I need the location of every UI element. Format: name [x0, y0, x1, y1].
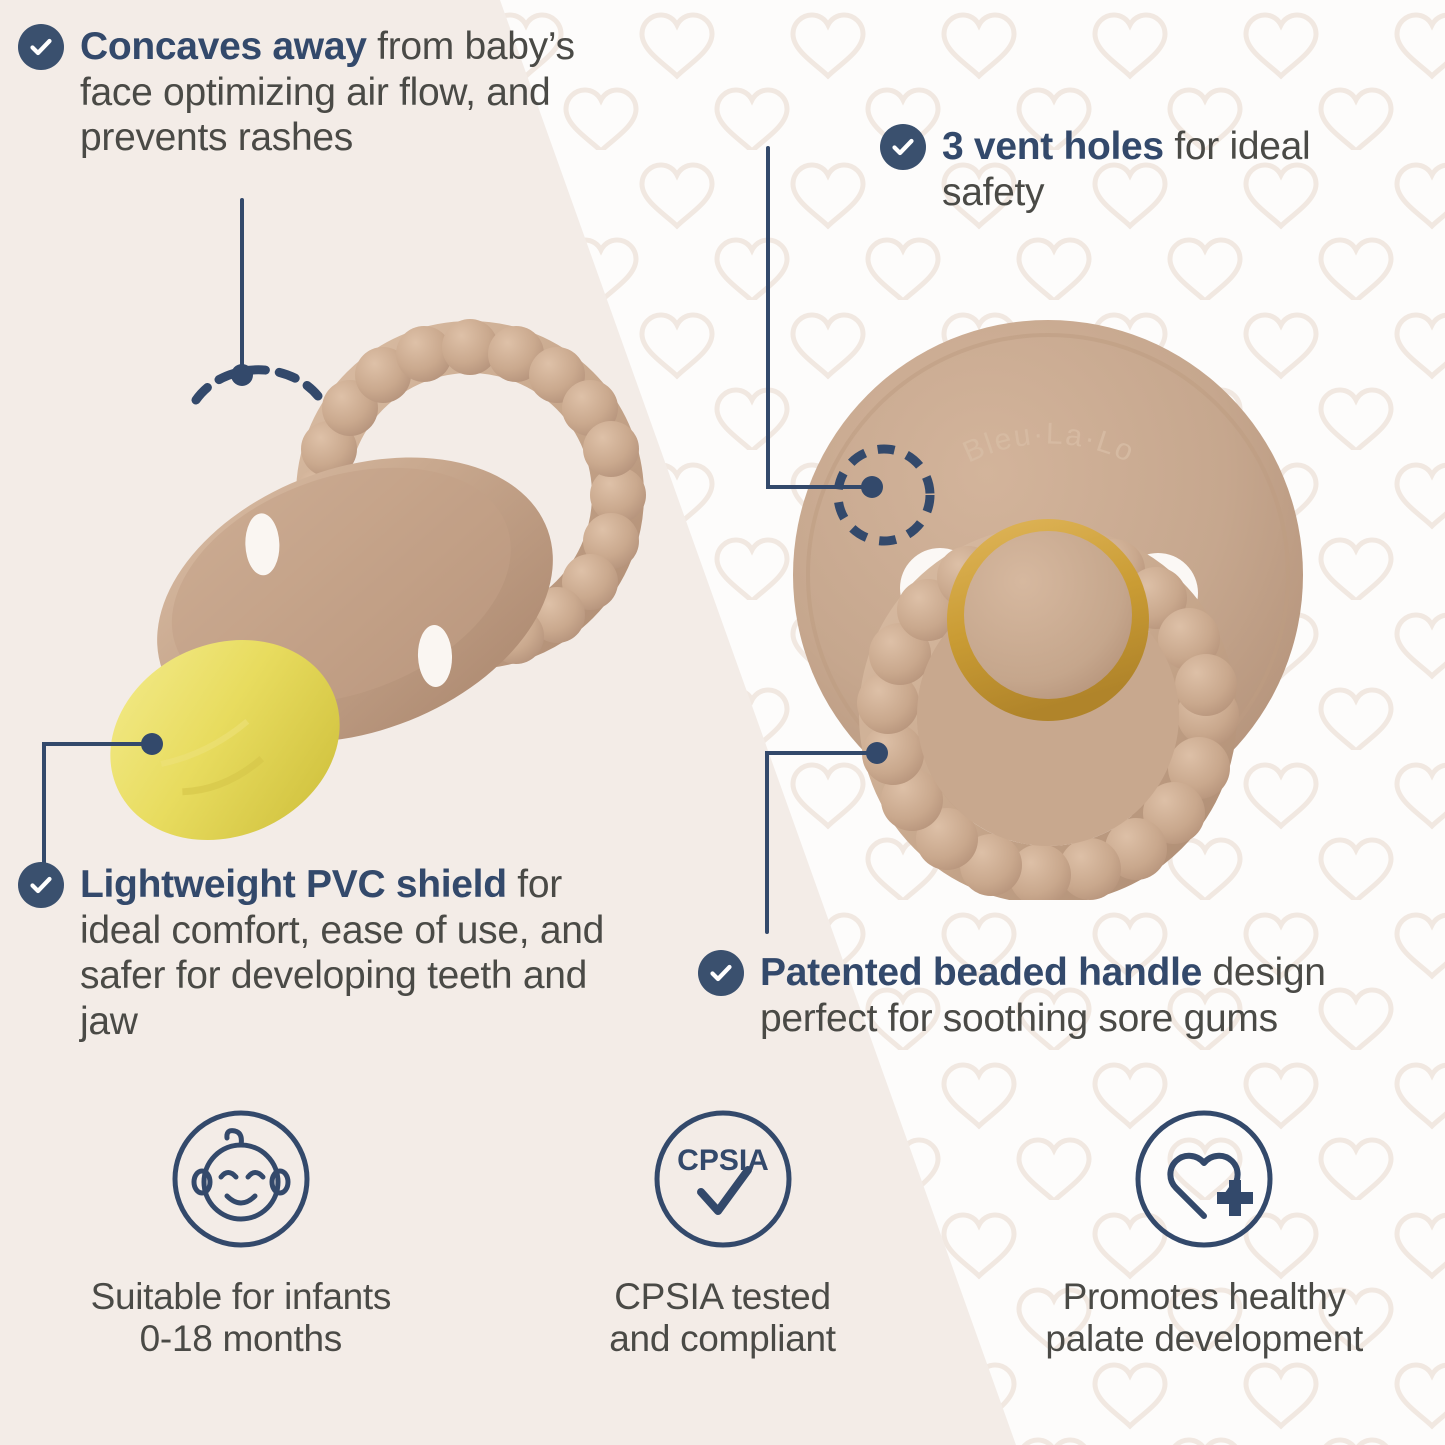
side-view-pacifier	[75, 300, 715, 880]
callout-text: 3 vent holes for ideal safety	[942, 124, 1400, 215]
callout-bold-text: Patented beaded handle	[760, 951, 1202, 994]
heart-plus-icon	[1133, 1108, 1275, 1250]
badge-label: CPSIA tested and compliant	[609, 1276, 835, 1360]
front-center-knob	[964, 531, 1132, 699]
check-circle-icon	[698, 950, 744, 996]
callout-concaves-away: Concaves away from baby’s face optimizin…	[18, 24, 618, 161]
callout-patented-beaded-handle: Patented beaded handle design perfect fo…	[698, 950, 1428, 1041]
callout-vent-holes: 3 vent holes for ideal safety	[880, 124, 1400, 215]
callout-text: Patented beaded handle design perfect fo…	[760, 950, 1428, 1041]
badge-cpsia-tested: CPSIA CPSIA tested and compliant	[482, 1108, 964, 1408]
badge-label-line1: CPSIA tested	[609, 1276, 835, 1318]
badge-suitable-for-infants: Suitable for infants 0-18 months	[0, 1108, 482, 1408]
badge-label-line1: Suitable for infants	[91, 1276, 391, 1318]
callout-bold-text: Concaves away	[80, 25, 367, 68]
callout-bold-text: 3 vent holes	[942, 125, 1164, 168]
feature-badges-row: Suitable for infants 0-18 months CPSIA C…	[0, 1108, 1445, 1408]
badge-label-line1: Promotes healthy	[1045, 1276, 1363, 1318]
infographic-canvas: Bleu·La·Lo	[0, 0, 1445, 1445]
badge-label-line2: and compliant	[609, 1318, 835, 1360]
badge-healthy-palate: Promotes healthy palate development	[963, 1108, 1445, 1408]
check-circle-icon	[18, 862, 64, 908]
badge-label-line2: 0-18 months	[91, 1318, 391, 1360]
check-circle-icon	[18, 24, 64, 70]
cpsia-icon-text: CPSIA	[677, 1144, 769, 1177]
callout-lightweight-pvc-shield: Lightweight PVC shield for ideal comfort…	[18, 862, 638, 1045]
badge-label: Suitable for infants 0-18 months	[91, 1276, 391, 1360]
callout-text: Concaves away from baby’s face optimizin…	[80, 24, 618, 161]
callout-bold-text: Lightweight PVC shield	[80, 863, 507, 906]
cpsia-check-icon: CPSIA	[652, 1108, 794, 1250]
badge-label: Promotes healthy palate development	[1045, 1276, 1363, 1360]
badge-label-line2: palate development	[1045, 1318, 1363, 1360]
front-view-pacifier: Bleu·La·Lo	[790, 315, 1320, 900]
callout-text: Lightweight PVC shield for ideal comfort…	[80, 862, 638, 1045]
baby-face-icon	[170, 1108, 312, 1250]
check-circle-icon	[880, 124, 926, 170]
